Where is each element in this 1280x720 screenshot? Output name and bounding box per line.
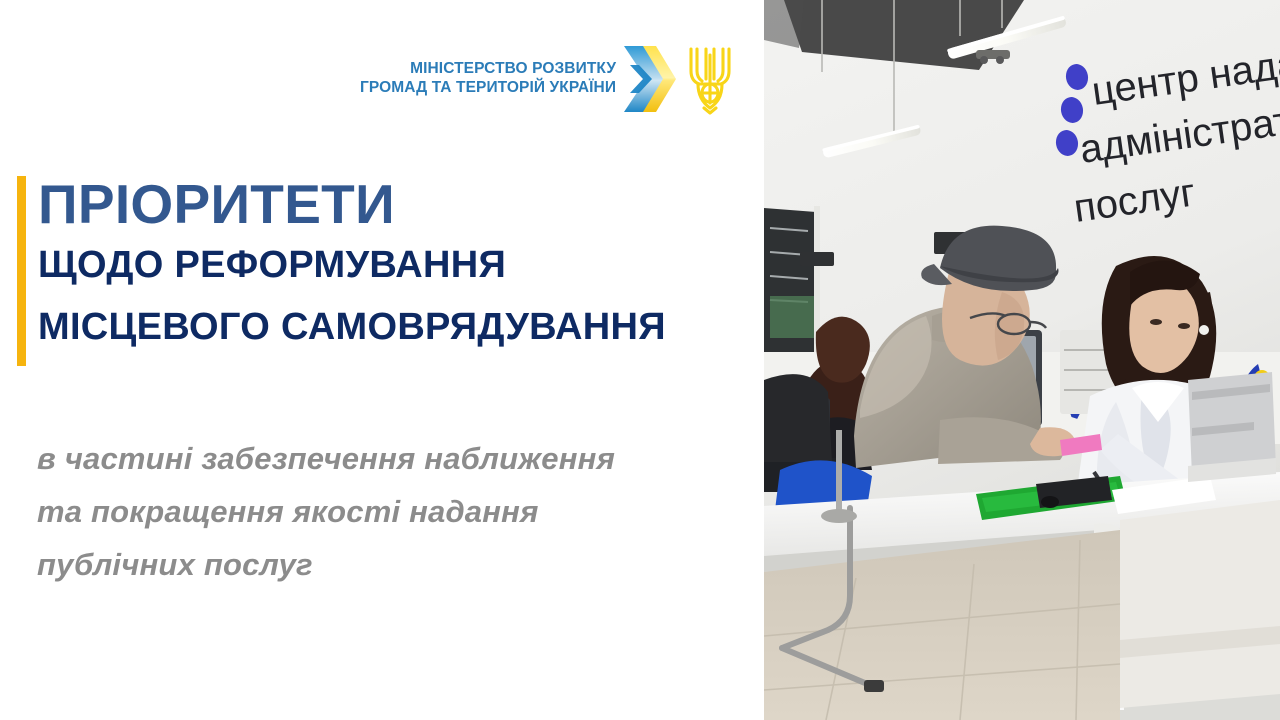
ministry-logo: МІНІСТЕРСТВО РОЗВИТКУ ГРОМАД ТА ТЕРИТОРІ… [360,40,735,118]
photo-illustration: центр надан адміністрат послуг [764,0,1280,720]
ukraine-trident-icon [684,41,736,117]
subtitle-line-1: в частині забезпечення наближення [37,432,752,485]
subtitle: в частині забезпечення наближення та пок… [37,432,752,591]
content-pane: МІНІСТЕРСТВО РОЗВИТКУ ГРОМАД ТА ТЕРИТОРІ… [0,0,764,720]
ministry-logo-line2: ГРОМАД ТА ТЕРИТОРІЙ УКРАЇНИ [360,79,616,98]
title-line-2: ЩОДО РЕФОРМУВАННЯ [38,240,748,290]
title-line-3: МІСЦЕВОГО САМОВРЯДУВАННЯ [38,302,748,352]
ministry-logo-wordmark: МІНІСТЕРСТВО РОЗВИТКУ ГРОМАД ТА ТЕРИТОРІ… [360,60,622,98]
ministry-logo-line1: МІНІСТЕРСТВО РОЗВИТКУ [410,60,616,79]
service-centre-photo: центр надан адміністрат послуг [764,0,1280,720]
subtitle-line-3: публічних послуг [37,538,752,591]
double-chevron-icon [622,41,678,117]
title-accent-bar [17,176,26,366]
title-line-1: ПРІОРИТЕТИ [38,172,748,236]
subtitle-line-2: та покращення якості надання [37,485,752,538]
page-title: ПРІОРИТЕТИ ЩОДО РЕФОРМУВАННЯ МІСЦЕВОГО С… [38,172,748,352]
slide-root: МІНІСТЕРСТВО РОЗВИТКУ ГРОМАД ТА ТЕРИТОРІ… [0,0,1280,720]
